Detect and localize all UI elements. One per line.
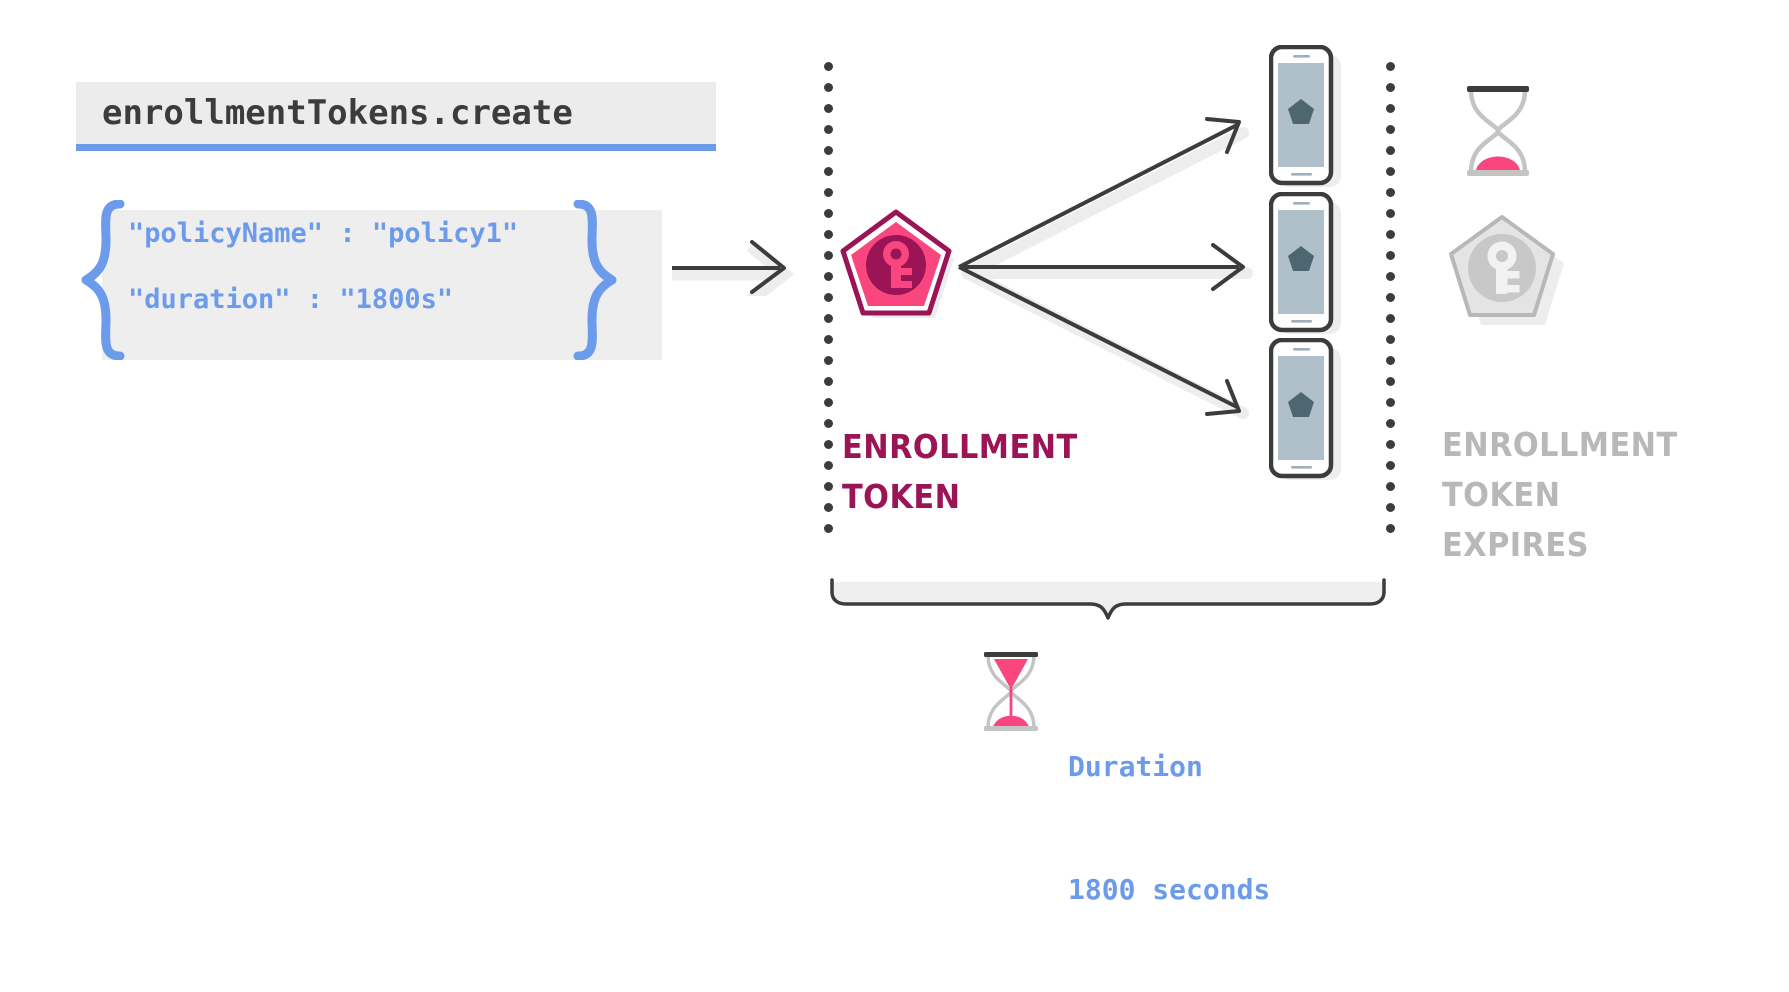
boundary-dot [824, 272, 833, 281]
expired-token-label-line-3: EXPIRES [1442, 520, 1736, 570]
boundary-dot [824, 146, 833, 155]
device-1 [1269, 45, 1341, 187]
hourglass-icon-duration [978, 648, 1044, 734]
boundary-dot [1386, 314, 1395, 323]
hourglass-icon-expired [1459, 82, 1537, 178]
boundary-dot [1386, 419, 1395, 428]
boundary-dot [824, 398, 833, 407]
duration-value: 1800 seconds [1068, 869, 1468, 910]
duration-brace-icon [828, 578, 1388, 628]
boundary-dot [824, 419, 833, 428]
boundary-dot [824, 461, 833, 470]
boundary-dot [824, 314, 833, 323]
boundary-dot [824, 209, 833, 218]
boundary-dot [1386, 125, 1395, 134]
duration-title: Duration [1068, 746, 1468, 787]
boundary-dot [1386, 377, 1395, 386]
boundary-dot [1386, 335, 1395, 344]
token-distribution-arrows [955, 95, 1255, 435]
boundary-dot [824, 167, 833, 176]
boundary-dot [824, 125, 833, 134]
arrow-right-icon [672, 238, 802, 296]
arrow-up-right-icon [959, 119, 1239, 267]
enrollment-token-label-line-2: TOKEN [842, 472, 1118, 522]
boundary-dot [824, 293, 833, 302]
boundary-dot [1386, 503, 1395, 512]
boundary-dot [824, 503, 833, 512]
boundary-dot [1386, 62, 1395, 71]
boundary-dot [824, 335, 833, 344]
expired-token-label-line-2: TOKEN [1442, 470, 1736, 520]
boundary-dot [1386, 104, 1395, 113]
boundary-dot [1386, 398, 1395, 407]
curly-brace-open-icon [80, 200, 128, 360]
device-2 [1269, 192, 1341, 334]
boundary-dot [824, 62, 833, 71]
boundary-dot [824, 440, 833, 449]
boundary-dot [824, 188, 833, 197]
boundary-dot [824, 104, 833, 113]
boundary-dot [1386, 482, 1395, 491]
enrollment-token-icon [838, 208, 958, 326]
payload-line-policy-name: "policyName" : "policy1" [128, 220, 578, 247]
boundary-dot [824, 524, 833, 533]
api-method-label: enrollmentTokens.create [102, 93, 573, 133]
boundary-dot [824, 356, 833, 365]
expired-token-label: ENROLLMENT TOKEN EXPIRES [1442, 420, 1736, 570]
api-header-accent-underline [76, 144, 716, 151]
boundary-dot [1386, 461, 1395, 470]
boundary-dot [1386, 440, 1395, 449]
boundary-dot [1386, 209, 1395, 218]
boundary-dot [824, 482, 833, 491]
boundary-dot [824, 83, 833, 92]
boundary-line-token-issued [824, 62, 833, 540]
boundary-line-token-expires [1386, 62, 1395, 540]
boundary-dot [1386, 272, 1395, 281]
enrollment-token-label: ENROLLMENT TOKEN [842, 422, 1118, 522]
boundary-dot [1386, 230, 1395, 239]
request-payload-block: "policyName" : "policy1" "duration" : "1… [80, 200, 660, 360]
device-3 [1269, 338, 1341, 480]
boundary-dot [1386, 356, 1395, 365]
boundary-dot [824, 377, 833, 386]
diagram-canvas: enrollmentTokens.create "policyName" : "… [0, 0, 1789, 795]
payload-lines: "policyName" : "policy1" "duration" : "1… [128, 220, 578, 352]
boundary-dot [1386, 251, 1395, 260]
boundary-dot [1386, 293, 1395, 302]
boundary-dot [1386, 83, 1395, 92]
expired-token-icon [1440, 205, 1574, 335]
boundary-dot [1386, 188, 1395, 197]
boundary-dot [824, 230, 833, 239]
boundary-dot [1386, 146, 1395, 155]
boundary-dot [1386, 524, 1395, 533]
boundary-dot [1386, 167, 1395, 176]
expired-token-label-line-1: ENROLLMENT [1442, 420, 1736, 470]
boundary-dot [824, 251, 833, 260]
payload-line-duration: "duration" : "1800s" [128, 286, 578, 313]
api-method-header: enrollmentTokens.create [76, 82, 716, 144]
duration-label: Duration 1800 seconds [1068, 664, 1468, 992]
